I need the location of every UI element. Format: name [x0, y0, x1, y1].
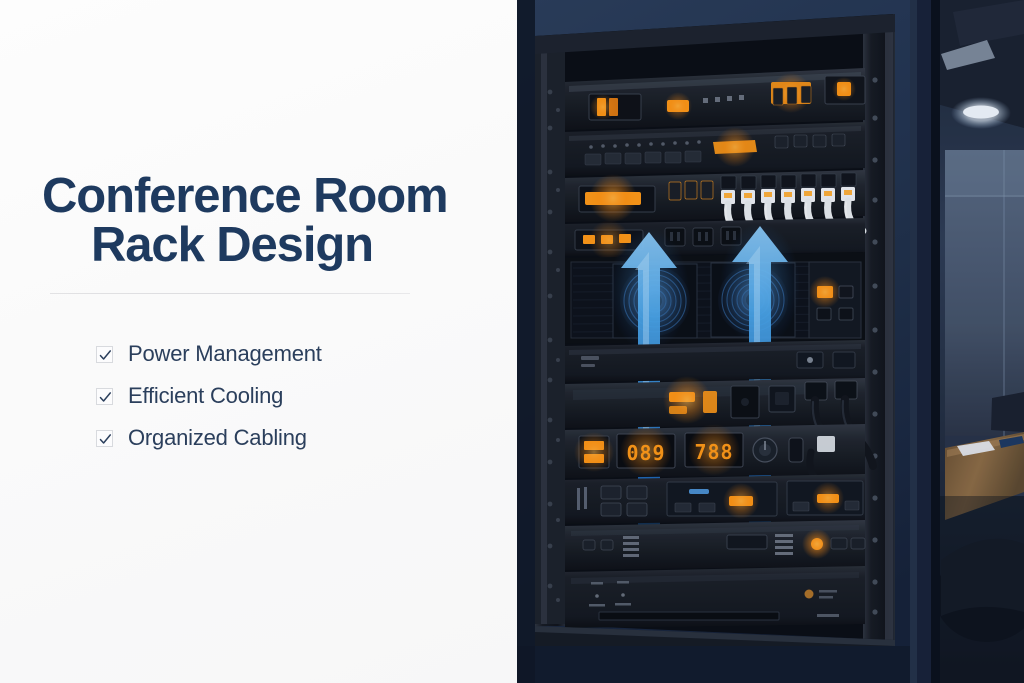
list-item: Power Management [96, 333, 436, 375]
title-line-1: Conference Room [42, 169, 448, 223]
page-title: Conference Room Rack Design [42, 172, 422, 269]
checkbox-checked-icon [96, 388, 113, 405]
slide-text-panel: Conference Room Rack Design Power Manage… [0, 0, 517, 683]
checkbox-checked-icon [96, 346, 113, 363]
title-divider [50, 293, 410, 294]
list-item-label: Efficient Cooling [128, 383, 283, 409]
title-block: Conference Room Rack Design [42, 172, 422, 269]
list-item: Efficient Cooling [96, 375, 436, 417]
list-item-label: Organized Cabling [128, 425, 307, 451]
checkbox-checked-icon [96, 430, 113, 447]
list-item: Organized Cabling [96, 417, 436, 459]
title-line-2: Rack Design [42, 221, 422, 270]
feature-list: Power Management Efficient Cooling Organ… [96, 333, 436, 459]
rack-photo: 089 788 [517, 0, 1024, 683]
list-item-label: Power Management [128, 341, 322, 367]
